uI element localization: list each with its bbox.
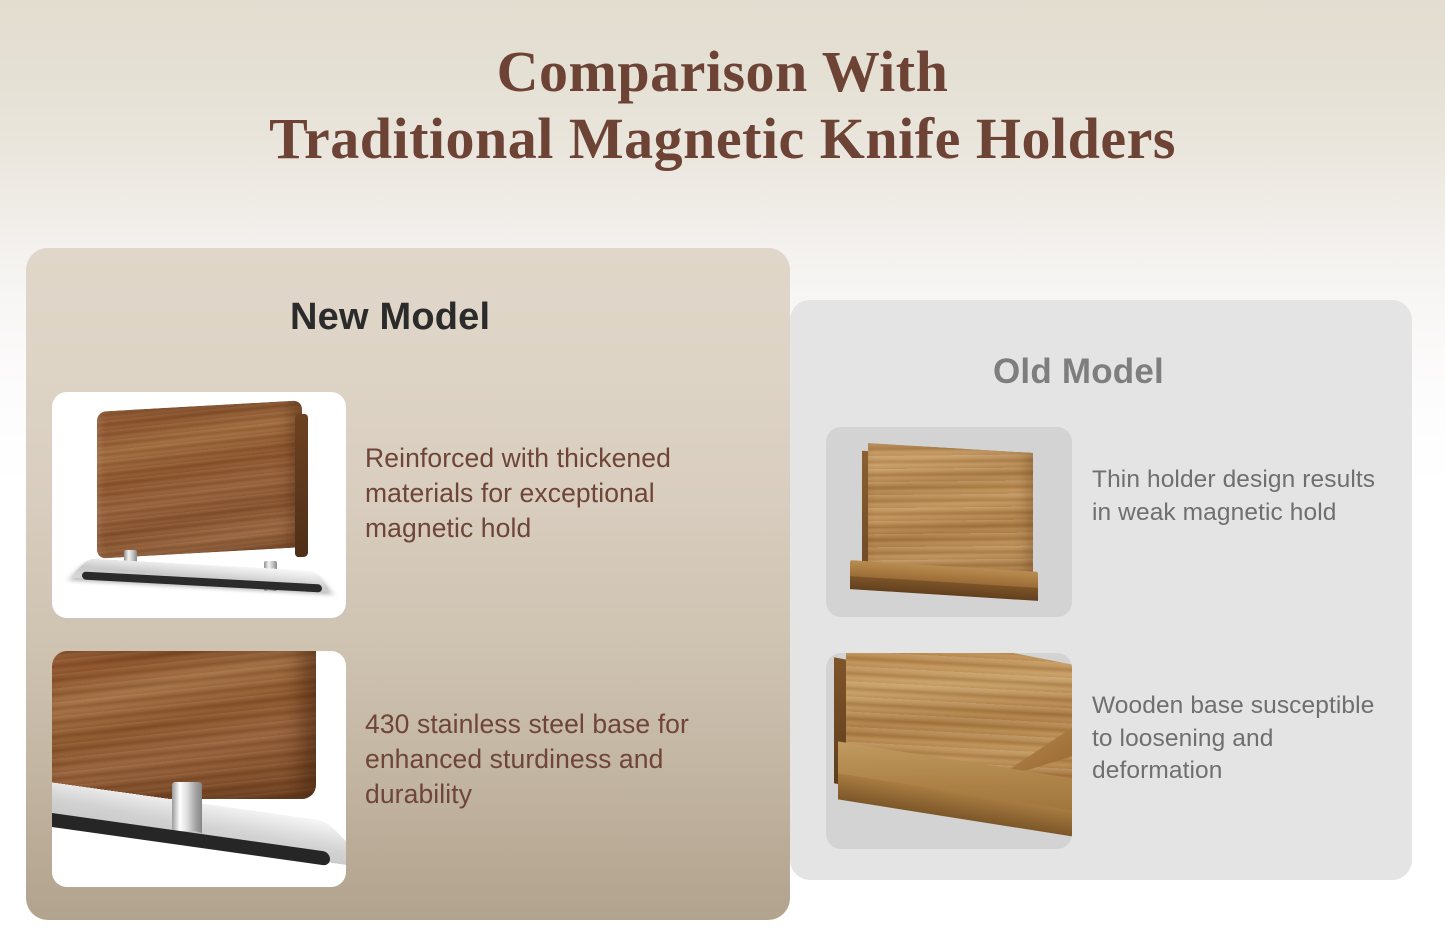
old-model-image-card-2: [826, 653, 1072, 849]
page-title-line-1: Comparison With: [0, 42, 1445, 101]
old-model-feature-text-2: Wooden base susceptible to loosening and…: [1092, 690, 1397, 788]
old-model-wooden-holder-full-view: [826, 427, 1072, 617]
walnut-board: [97, 400, 302, 558]
old-model-image-card-1: [826, 427, 1072, 617]
page-title-line-2: Traditional Magnetic Knife Holders: [0, 109, 1445, 168]
old-model-feature-text-1: Thin holder design results in weak magne…: [1092, 464, 1382, 529]
walnut-board-edge: [295, 414, 308, 558]
new-model-heading: New Model: [290, 296, 490, 339]
page-title: Comparison With Traditional Magnetic Kni…: [0, 42, 1445, 168]
new-model-stainless-base-closeup: [52, 651, 346, 887]
acacia-board: [868, 443, 1033, 580]
new-model-knife-holder-full-view: [52, 392, 346, 618]
new-model-feature-text-2: 430 stainless steel base for enhanced st…: [365, 707, 770, 813]
new-model-image-card-2: [52, 651, 346, 887]
walnut-board-closeup: [52, 651, 316, 799]
old-model-wooden-base-closeup: [826, 653, 1072, 849]
old-model-heading: Old Model: [993, 352, 1164, 392]
new-model-image-card-1: [52, 392, 346, 618]
new-model-feature-text-1: Reinforced with thickened materials for …: [365, 441, 760, 547]
